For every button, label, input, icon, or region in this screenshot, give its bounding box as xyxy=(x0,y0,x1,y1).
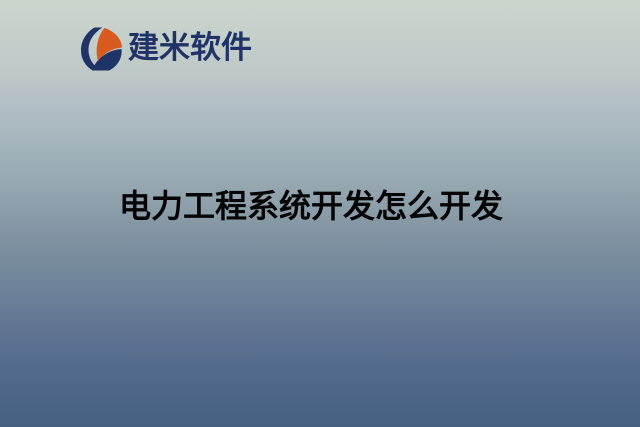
jianmi-logo-mark-icon xyxy=(80,26,124,72)
banner-image: 建米软件 电力工程系统开发怎么开发 xyxy=(0,0,640,427)
headline-block: 电力工程系统开发怎么开发 xyxy=(0,188,640,226)
page-title: 电力工程系统开发怎么开发 xyxy=(119,188,503,226)
brand-logo: 建米软件 xyxy=(80,26,252,72)
logo-mark-svg xyxy=(80,26,124,72)
brand-wordmark: 建米软件 xyxy=(128,33,252,66)
